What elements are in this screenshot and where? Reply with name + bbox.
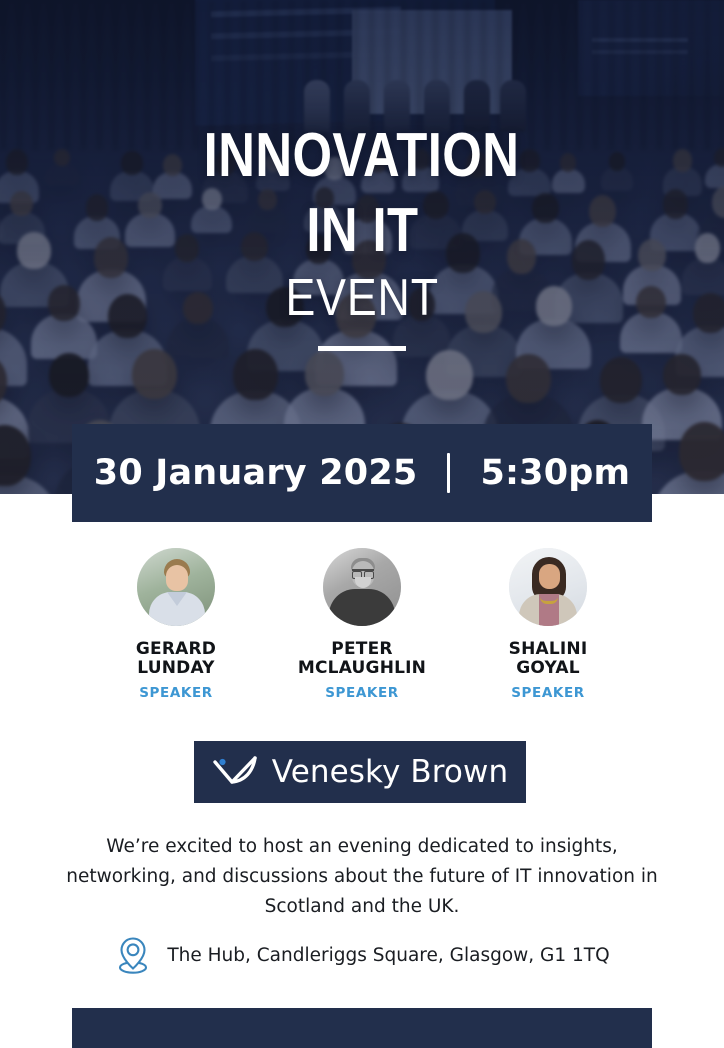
speaker-name-line-1: PETER bbox=[298, 640, 426, 659]
title-divider-rule bbox=[318, 346, 406, 351]
event-description: We’re excited to host an evening dedicat… bbox=[62, 832, 662, 922]
title-line-3: EVENT bbox=[285, 272, 438, 324]
map-pin-icon bbox=[114, 934, 152, 976]
speakers-row: GERARD LUNDAY SPEAKER PETER MCLAUGHLIN S… bbox=[0, 548, 724, 701]
speaker-name-line-2: MCLAUGHLIN bbox=[298, 659, 426, 678]
speaker-role: SPEAKER bbox=[139, 685, 213, 701]
speaker-name: SHALINI GOYAL bbox=[509, 640, 588, 678]
speaker-photo-gerard-lunday bbox=[137, 548, 215, 626]
bottom-accent-bar bbox=[72, 1008, 652, 1048]
hero-banner: INNOVATION IN IT EVENT bbox=[0, 0, 724, 494]
title-line-2: IN IT bbox=[306, 200, 418, 262]
speaker-role: SPEAKER bbox=[325, 685, 399, 701]
speaker-name-line-1: SHALINI bbox=[509, 640, 588, 659]
title-line-1: INNOVATION bbox=[204, 126, 520, 186]
speaker-name: PETER MCLAUGHLIN bbox=[298, 640, 426, 678]
speaker-name-line-2: LUNDAY bbox=[136, 659, 216, 678]
speaker-card: GERARD LUNDAY SPEAKER bbox=[83, 548, 269, 701]
location-address: The Hub, Candleriggs Square, Glasgow, G1… bbox=[167, 945, 609, 966]
event-time: 5:30pm bbox=[480, 453, 630, 493]
speaker-name-line-2: GOYAL bbox=[509, 659, 588, 678]
speaker-photo-shalini-goyal bbox=[509, 548, 587, 626]
hero-title-block: INNOVATION IN IT EVENT bbox=[0, 0, 724, 494]
venesky-brown-wing-mark-icon bbox=[212, 755, 258, 789]
speaker-photo-peter-mclaughlin bbox=[323, 548, 401, 626]
venesky-brown-logo-text: Venesky Brown bbox=[272, 754, 508, 790]
speaker-card: PETER MCLAUGHLIN SPEAKER bbox=[269, 548, 455, 701]
event-location: The Hub, Candleriggs Square, Glasgow, G1… bbox=[0, 934, 724, 976]
speaker-card: SHALINI GOYAL SPEAKER bbox=[455, 548, 641, 701]
speaker-name-line-1: GERARD bbox=[136, 640, 216, 659]
speaker-name: GERARD LUNDAY bbox=[136, 640, 216, 678]
date-time-bar: 30 January 2025 5:30pm bbox=[72, 424, 652, 522]
venesky-brown-logo-block: Venesky Brown bbox=[194, 741, 526, 803]
date-time-separator bbox=[447, 453, 450, 493]
event-date: 30 January 2025 bbox=[94, 453, 418, 493]
speaker-role: SPEAKER bbox=[511, 685, 585, 701]
